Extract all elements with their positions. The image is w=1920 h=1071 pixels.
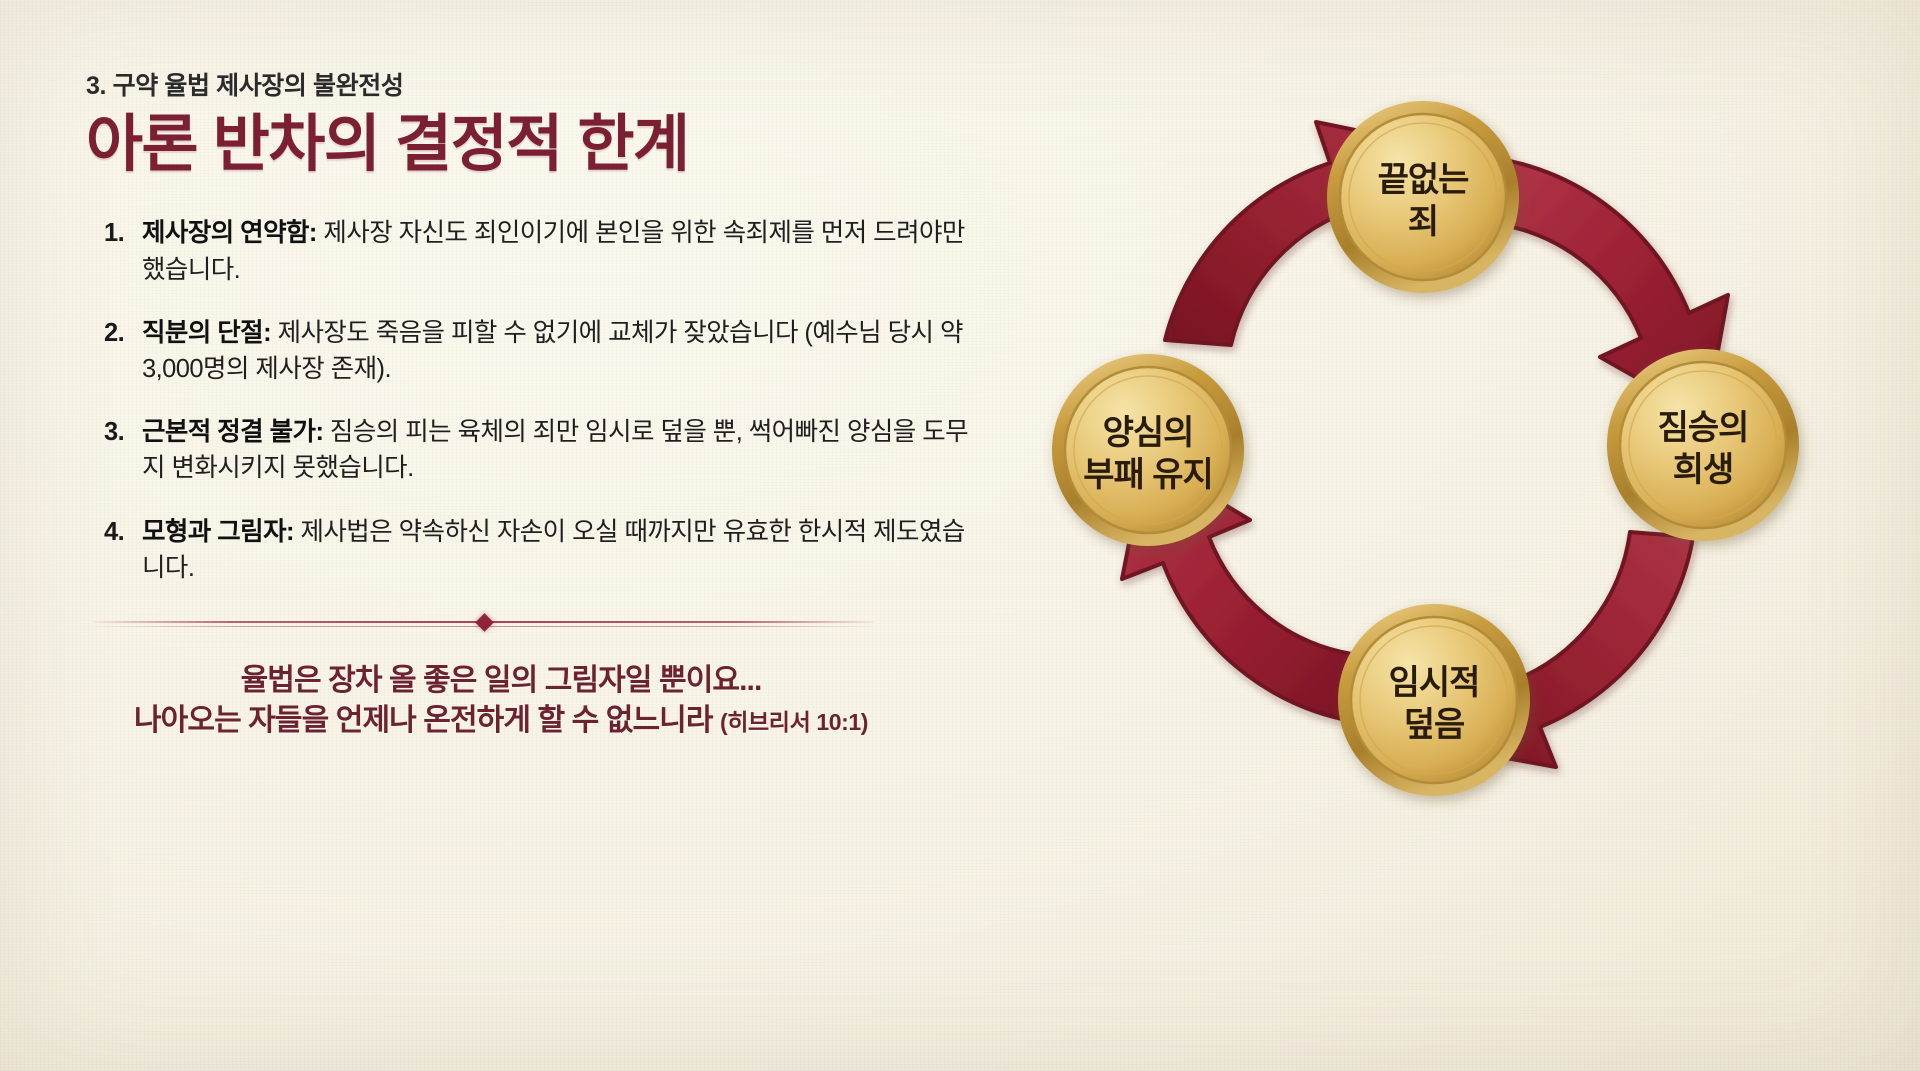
list-item-number: 2.	[104, 315, 124, 351]
cycle-node-bottom-line2: 덮음	[1404, 706, 1465, 744]
list-item-lead: 제사장의 연약함:	[142, 219, 317, 247]
slide-root: 3. 구약 율법 제사장의 불완전성 아론 반차의 결정적 한계 1. 제사장의…	[0, 0, 1920, 1071]
ornamental-divider	[94, 613, 874, 631]
section-eyebrow: 3. 구약 율법 제사장의 불완전성	[86, 66, 986, 102]
cycle-node-top[interactable]: 끝없는 죄	[1327, 101, 1519, 293]
limitations-list: 1. 제사장의 연약함: 제사장 자신도 죄인이기에 본인을 위한 속죄제를 먼…	[104, 215, 986, 586]
cycle-node-left[interactable]: 양심의 부패 유지	[1052, 354, 1244, 546]
cycle-node-bottom[interactable]: 임시적 덮음	[1338, 604, 1530, 796]
quote-reference: (히브리서 10:1)	[720, 709, 868, 735]
quote-line-2-text: 나아오는 자들을 언제나 온전하게 할 수 없느니라	[134, 704, 713, 737]
page-title: 아론 반차의 결정적 한계	[86, 110, 986, 179]
list-item-lead: 직분의 단절:	[142, 319, 271, 347]
list-item-lead: 모형과 그림자:	[142, 518, 294, 546]
cycle-node-top-line2: 죄	[1408, 203, 1438, 241]
quote-line-2: 나아오는 자들을 언제나 온전하게 할 수 없느니라 (히브리서 10:1)	[86, 701, 916, 741]
list-item-lead: 근본적 정결 불가:	[142, 418, 323, 446]
quote-line-1: 율법은 장차 올 좋은 일의 그림자일 뿐이요...	[86, 661, 916, 701]
vicious-cycle-diagram: 끝없는 죄 짐승의 희생 임시적 덮음	[1000, 45, 1900, 875]
cycle-node-right-line2: 희생	[1673, 451, 1734, 489]
list-item: 2. 직분의 단절: 제사장도 죽음을 피할 수 없기에 교체가 잦았습니다 (…	[104, 315, 986, 387]
cycle-node-right[interactable]: 짐승의 희생	[1607, 349, 1799, 541]
list-item: 4. 모형과 그림자: 제사법은 약속하신 자손이 오실 때까지만 유효한 한시…	[104, 514, 986, 586]
list-item: 3. 근본적 정결 불가: 짐승의 피는 육체의 죄만 임시로 덮을 뿐, 썩어…	[104, 414, 986, 486]
diamond-icon	[475, 613, 493, 631]
cycle-node-left-line2: 부패 유지	[1083, 456, 1213, 494]
content-column: 3. 구약 율법 제사장의 불완전성 아론 반차의 결정적 한계 1. 제사장의…	[86, 66, 986, 741]
list-item-number: 3.	[104, 414, 124, 450]
scripture-quote: 율법은 장차 올 좋은 일의 그림자일 뿐이요... 나아오는 자들을 언제나 …	[86, 661, 916, 741]
cycle-node-left-line1: 양심의	[1103, 414, 1194, 452]
list-item-number: 4.	[104, 514, 124, 550]
list-item: 1. 제사장의 연약함: 제사장 자신도 죄인이기에 본인을 위한 속죄제를 먼…	[104, 215, 986, 287]
cycle-node-bottom-line1: 임시적	[1389, 664, 1480, 702]
cycle-node-top-line1: 끝없는	[1378, 161, 1470, 199]
list-item-number: 1.	[104, 215, 124, 251]
cycle-node-right-line1: 짐승의	[1658, 409, 1749, 447]
